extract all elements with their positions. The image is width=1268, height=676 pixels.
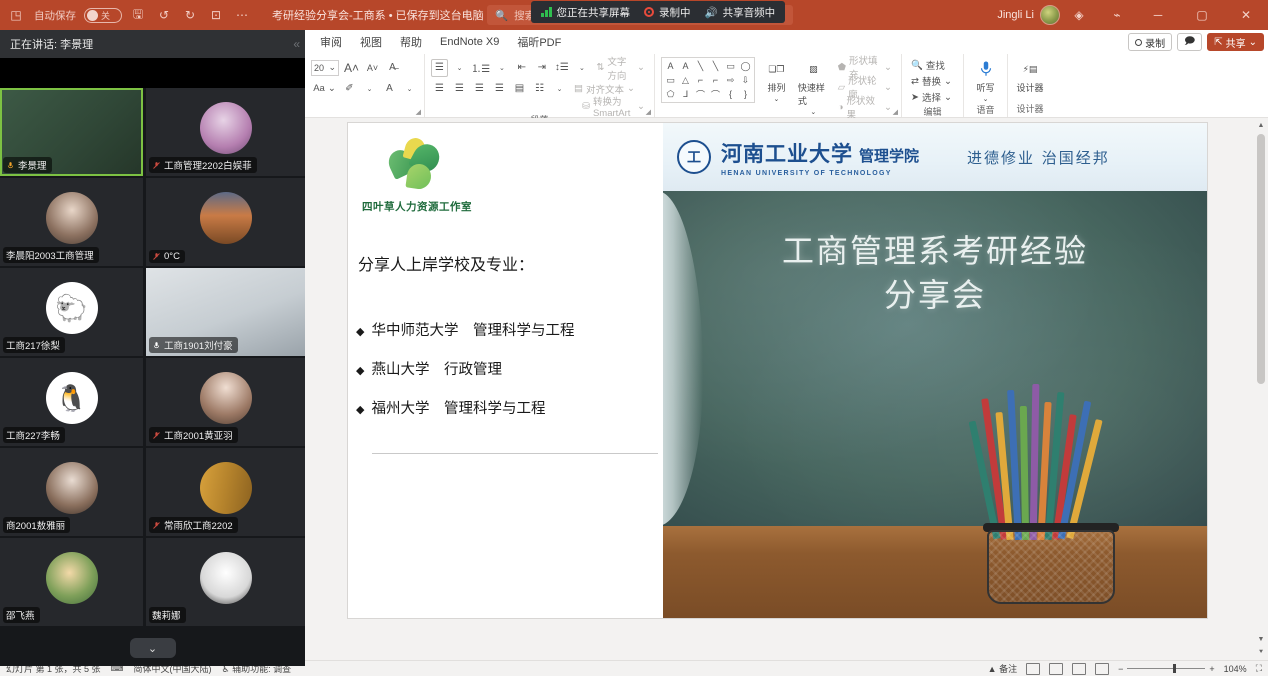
- avatar: [200, 462, 252, 514]
- tab-foxit-pdf[interactable]: 福昕PDF: [508, 31, 570, 53]
- font-color-icon[interactable]: A: [381, 80, 398, 98]
- zoom-meeting-panel: 正在讲话: 李景理 « 李景理 工商管理2202白娱菲: [0, 30, 305, 666]
- ribbon-group-font-title: [311, 105, 418, 117]
- record-button[interactable]: 录制: [1128, 33, 1172, 51]
- slide-right-column: 工 河南工业大学 管理学院 HENAN UNIVERSITY OF TECHNO…: [663, 123, 1207, 618]
- font-size-value: 20: [314, 63, 324, 73]
- participant-tile-4[interactable]: 🐑 工商217徐梨: [0, 268, 143, 356]
- dictate-button[interactable]: 听写 ⌄: [967, 57, 1005, 103]
- collapse-panel-icon[interactable]: «: [293, 37, 297, 51]
- scrollbar-thumb[interactable]: [1257, 134, 1265, 384]
- microphone-icon: [975, 58, 997, 80]
- university-header: 工 河南工业大学 管理学院 HENAN UNIVERSITY OF TECHNO…: [663, 123, 1207, 191]
- shape-down-arrow-icon[interactable]: ⇩: [738, 73, 753, 87]
- record-icon: [644, 7, 654, 17]
- clear-formatting-icon[interactable]: A̶: [384, 59, 401, 77]
- university-motto: 进德修业 治国经邦: [967, 147, 1110, 168]
- shape-line-icon[interactable]: ╲: [693, 59, 708, 73]
- participant-tile-9[interactable]: 常雨欣工商2202: [146, 448, 305, 536]
- slide-wrapper: 四叶草人力资源工作室 分享人上岸学校及专业： ◆华中师范大学 管理科学与工程 ◆…: [307, 122, 1248, 652]
- collapse-toolbar-button[interactable]: ⌄: [130, 638, 176, 658]
- tab-review[interactable]: 审阅: [311, 31, 351, 53]
- participant-tile-7[interactable]: 工商2001黄亚羽: [146, 358, 305, 446]
- search-icon: 🔍: [495, 9, 508, 22]
- scroll-up-arrow-icon[interactable]: ▲: [1254, 118, 1268, 132]
- participant-name: 0°C: [164, 251, 180, 262]
- bullets-icon[interactable]: ☰: [431, 59, 448, 77]
- autosave-toggle[interactable]: 关: [84, 8, 122, 23]
- zoom-slider[interactable]: − +: [1118, 664, 1215, 674]
- shape-arc2-icon[interactable]: ⌒: [708, 87, 723, 101]
- line-spacing-icon[interactable]: ↕☰: [553, 59, 570, 77]
- ribbon-group-font: 20 ⌄ A˄ A˅ A̶ Aa⌄ ✐ ⌄ A ⌄: [305, 54, 425, 117]
- avatar: [200, 552, 252, 604]
- notes-button[interactable]: ▲ 备注: [988, 662, 1017, 675]
- participant-name-chip: 工商管理2202白娱菲: [149, 157, 257, 173]
- ribbon-actions: 录制 🗩 ⇱ 共享 ⌄: [1128, 30, 1264, 54]
- quick-access-toolbar: ◳ 自动保存 关 🖫 ↺ ↻ ⊡ ⋯ 考研经验分享会-工商系 • 已保存到这台电…: [0, 5, 498, 25]
- participant-tile-11[interactable]: 魏莉娜: [146, 538, 305, 626]
- chevron-down-icon[interactable]: ⌄: [401, 80, 418, 98]
- list-item-text: 燕山大学 行政管理: [371, 362, 502, 378]
- sharing-label: 您正在共享屏幕: [557, 5, 631, 20]
- shape-fill-icon: ⬟: [838, 62, 846, 73]
- logo-caption: 四叶草人力资源工作室: [362, 199, 502, 214]
- fit-to-window-icon[interactable]: ⛶: [1256, 663, 1262, 674]
- audio-label: 共享音频中: [723, 5, 776, 20]
- participant-name: 李景理: [18, 158, 47, 172]
- sharing-status[interactable]: 您正在共享屏幕: [541, 5, 630, 20]
- participant-tile-2[interactable]: 李晨阳2003工商管理: [0, 178, 143, 266]
- avatar[interactable]: [1040, 5, 1060, 25]
- chevron-down-icon[interactable]: ⌄: [493, 59, 510, 77]
- participant-tile-3[interactable]: 0°C: [146, 178, 305, 266]
- cursor-icon: ➤: [911, 92, 919, 103]
- comment-icon: 🗩: [1184, 34, 1195, 51]
- shape-outline-icon: ▱: [838, 82, 845, 93]
- search-icon: 🔍: [911, 60, 923, 71]
- pencil-cup: [987, 530, 1115, 604]
- shape-pentagon-icon[interactable]: ⬠: [663, 87, 678, 101]
- ribbon-group-voice: 听写 ⌄ 语音: [964, 54, 1008, 117]
- participant-name: 魏莉娜: [152, 608, 181, 622]
- align-center-icon[interactable]: ☰: [451, 80, 468, 98]
- ribbon-group-voice-title: 语音: [976, 103, 994, 118]
- participant-name: 商2001敖雅丽: [6, 518, 65, 532]
- zoom-in-button[interactable]: +: [1209, 664, 1214, 674]
- divider: [372, 453, 658, 454]
- participant-tile-0[interactable]: 李景理: [0, 88, 143, 176]
- start-slideshow-icon[interactable]: ⊡: [206, 5, 226, 25]
- ribbon-display-options-icon[interactable]: ⌁: [1098, 0, 1136, 30]
- text-direction-button[interactable]: ⇅ 文字方向⌄: [593, 59, 648, 77]
- participant-name: 工商227李畅: [6, 428, 60, 442]
- diamond-icon[interactable]: ◈: [1060, 0, 1098, 30]
- shape-elbow-icon[interactable]: ⌐: [708, 73, 723, 87]
- autosave-knob: [87, 10, 98, 21]
- text-columns-icon[interactable]: ☷: [531, 80, 548, 98]
- increase-indent-icon[interactable]: ⇥: [533, 59, 550, 77]
- microphone-muted-icon: [152, 431, 161, 440]
- designer-button[interactable]: ⚡▤ 设计器: [1011, 57, 1049, 94]
- list-item: ◆燕山大学 行政管理: [356, 358, 661, 379]
- shape-triangle-icon[interactable]: △: [678, 73, 693, 87]
- shape-corner-icon[interactable]: ⌐: [693, 73, 708, 87]
- recording-label: 录制中: [659, 5, 691, 20]
- avatar: [46, 462, 98, 514]
- autosave-label: 自动保存: [34, 8, 76, 23]
- tab-view[interactable]: 视图: [351, 31, 391, 53]
- university-school: 管理学院: [859, 145, 919, 166]
- microphone-on-icon: [6, 161, 15, 170]
- slide-left-column: 四叶草人力资源工作室 分享人上岸学校及专业： ◆华中师范大学 管理科学与工程 ◆…: [348, 123, 663, 618]
- avatar: 🐧: [46, 372, 98, 424]
- slide-bullet-list: ◆华中师范大学 管理科学与工程 ◆燕山大学 行政管理 ◆福州大学 管理科学与工程: [356, 319, 661, 436]
- shape-arc-icon[interactable]: ⌒: [693, 87, 708, 101]
- view-slide-sorter-button[interactable]: [1049, 663, 1063, 675]
- active-speaker-bar: 正在讲话: 李景理 «: [0, 30, 305, 58]
- participant-name-chip: 常雨欣工商2202: [149, 517, 238, 533]
- shape-curve-icon[interactable]: ᒧ: [678, 87, 693, 101]
- participant-name: 工商1901刘付豪: [164, 338, 233, 352]
- panel-spacer: [0, 58, 305, 88]
- shape-right-arrow-icon[interactable]: ⇨: [723, 73, 738, 87]
- scroll-down-arrow-icon[interactable]: ▼: [1254, 632, 1268, 646]
- align-left-icon[interactable]: ☰: [431, 80, 448, 98]
- next-slide-arrow-icon[interactable]: ⯆: [1254, 646, 1268, 660]
- titlebar-right: Jingli Li ◈ ⌁ ─ ▢ ✕: [997, 0, 1268, 30]
- drawing-dialog-launcher[interactable]: ◢: [893, 108, 898, 116]
- align-text-icon: ▤: [574, 83, 583, 94]
- share-icon: ⇱: [1214, 37, 1222, 48]
- arrange-icon: ❏❐: [765, 58, 787, 80]
- diamond-bullet-icon: ◆: [356, 403, 364, 416]
- avatar: [200, 372, 252, 424]
- ribbon-group-designer-title: 设计器: [1016, 102, 1043, 117]
- qat-more-icon[interactable]: ⋯: [232, 5, 252, 25]
- participant-name-chip: 邵飞燕: [3, 607, 40, 623]
- shape-oval-icon[interactable]: ◯: [738, 59, 753, 73]
- grow-font-icon[interactable]: A˄: [342, 59, 361, 77]
- text-highlight-icon[interactable]: ✐: [341, 80, 358, 98]
- speaker-icon: 🔊: [705, 6, 718, 19]
- avatar: 🐑: [46, 282, 98, 334]
- find-label: 查找: [926, 58, 945, 72]
- clover-logo-icon: [383, 138, 445, 196]
- participant-tile-1[interactable]: 工商管理2202白娱菲: [146, 88, 305, 176]
- participant-name-chip: 商2001敖雅丽: [3, 517, 70, 533]
- quick-styles-icon: ▨: [802, 58, 824, 80]
- maximize-button[interactable]: ▢: [1180, 0, 1224, 30]
- page-title: 工商管理系考研经验 分享会: [663, 229, 1207, 317]
- notes-icon: ▲: [988, 664, 997, 674]
- powerpoint-app-icon: ◳: [6, 5, 26, 25]
- participant-name: 工商217徐梨: [6, 338, 60, 352]
- participant-name: 邵飞燕: [6, 608, 35, 622]
- chevron-down-icon: ⌄: [1249, 37, 1257, 48]
- designer-icon: ⚡▤: [1019, 58, 1041, 80]
- redo-icon[interactable]: ↻: [180, 5, 200, 25]
- arrange-label: 排列: [767, 81, 785, 94]
- shape-arrow-icon[interactable]: ╲: [708, 59, 723, 73]
- participant-name-chip: 0°C: [149, 250, 185, 263]
- font-size-input[interactable]: 20 ⌄: [311, 60, 339, 76]
- chevron-down-icon: ⌄: [810, 108, 816, 116]
- record-icon: [1135, 39, 1142, 46]
- university-name-cn: 河南工业大学: [721, 138, 853, 168]
- text-direction-icon: ⇅: [596, 62, 604, 73]
- shape-brace-left-icon[interactable]: {: [723, 87, 738, 101]
- chevron-down-icon[interactable]: ⌄: [451, 59, 468, 77]
- quick-styles-button[interactable]: ▨ 快速样式 ⌄: [798, 57, 829, 116]
- participant-name: 常雨欣工商2202: [164, 518, 233, 532]
- diamond-bullet-icon: ◆: [356, 325, 364, 338]
- ribbon-group-designer: ⚡▤ 设计器 设计器: [1008, 54, 1052, 117]
- participant-tile-6[interactable]: 🐧 工商227李畅: [0, 358, 143, 446]
- participant-name-chip: 工商227李畅: [3, 427, 65, 443]
- document-title-text: 考研经验分享会-工商系 • 已保存到这台电脑: [272, 10, 484, 22]
- arrange-button[interactable]: ❏❐ 排列 ⌄: [761, 57, 792, 103]
- avatar: [46, 552, 98, 604]
- record-label: 录制: [1145, 35, 1165, 50]
- replace-label: 替换: [922, 74, 941, 88]
- vertical-scrollbar[interactable]: ▲ ▼ ⯆: [1254, 118, 1268, 660]
- notes-label: 备注: [999, 664, 1017, 674]
- dictate-label: 听写: [976, 81, 994, 94]
- chevron-down-icon[interactable]: ⌄: [573, 59, 590, 77]
- decrease-indent-icon[interactable]: ⇤: [513, 59, 530, 77]
- screen-root: ◳ 自动保存 关 🖫 ↺ ↻ ⊡ ⋯ 考研经验分享会-工商系 • 已保存到这台电…: [0, 0, 1268, 676]
- font-dialog-launcher[interactable]: ◢: [416, 108, 421, 116]
- columns-icon[interactable]: ▤: [511, 80, 528, 98]
- participant-tile-10[interactable]: 邵飞燕: [0, 538, 143, 626]
- share-label: 共享: [1226, 35, 1246, 50]
- zoom-out-button[interactable]: −: [1118, 664, 1123, 674]
- participant-name-chip: 工商1901刘付豪: [149, 337, 238, 353]
- participant-name: 工商2001黄亚羽: [164, 428, 233, 442]
- align-right-icon[interactable]: ☰: [471, 80, 488, 98]
- change-case-icon[interactable]: Aa⌄: [311, 80, 338, 98]
- view-normal-button[interactable]: [1026, 663, 1040, 675]
- shape-textbox-icon[interactable]: A: [663, 59, 678, 73]
- participant-grid: 李景理 工商管理2202白娱菲 李晨阳2003工商管理: [0, 88, 305, 666]
- participant-name-chip: 李景理: [3, 157, 52, 173]
- page-title-line1: 工商管理系考研经验: [663, 229, 1207, 273]
- document-title[interactable]: 考研经验分享会-工商系 • 已保存到这台电脑 ⌄: [272, 7, 498, 23]
- view-reading-button[interactable]: [1072, 663, 1086, 675]
- ribbon-tabstrip: 审阅 视图 帮助 EndNote X9 福昕PDF: [305, 30, 1268, 54]
- avatar: [200, 192, 252, 244]
- numbering-icon[interactable]: ⒈☰: [471, 59, 490, 77]
- shape-effects-button[interactable]: ◑ 形状效果⌄: [835, 98, 895, 116]
- shapes-gallery[interactable]: A A ╲ ╲ ▭ ◯ ▭ △ ⌐ ⌐ ⇨ ⇩ ⬠ ᒧ ⌒: [661, 57, 755, 103]
- smartart-icon: ⛁: [582, 101, 590, 112]
- select-label: 选择: [922, 90, 941, 104]
- designer-label: 设计器: [1016, 81, 1043, 94]
- participant-name: 李晨阳2003工商管理: [6, 248, 94, 262]
- participant-tile-5[interactable]: 工商1901刘付豪: [146, 268, 305, 356]
- zoom-track[interactable]: [1127, 668, 1205, 669]
- participant-tile-8[interactable]: 商2001敖雅丽: [0, 448, 143, 536]
- participant-name-chip: 李晨阳2003工商管理: [3, 247, 99, 263]
- change-case-label: Aa: [313, 83, 325, 94]
- university-crest-icon: 工: [677, 140, 711, 174]
- participant-name-chip: 工商217徐梨: [3, 337, 65, 353]
- zoom-level[interactable]: 104%: [1224, 664, 1247, 674]
- page-title-line2: 分享会: [663, 273, 1207, 317]
- undo-icon[interactable]: ↺: [154, 5, 174, 25]
- signal-bars-icon: [541, 7, 552, 17]
- avatar: [46, 192, 98, 244]
- chevron-down-icon: ⌄: [328, 62, 336, 73]
- status-bar-right: ▲ 备注 − + 104% ⛶: [988, 662, 1262, 675]
- replace-icon: ⇄: [911, 76, 919, 87]
- audio-sharing-status[interactable]: 🔊 共享音频中: [705, 5, 776, 20]
- participant-name-chip: 工商2001黄亚羽: [149, 427, 238, 443]
- slide-share-heading: 分享人上岸学校及专业：: [358, 251, 534, 275]
- shrink-font-icon[interactable]: A˅: [364, 59, 381, 77]
- tab-endnote[interactable]: EndNote X9: [431, 33, 508, 51]
- chalkboard-image: 工商管理系考研经验 分享会: [663, 191, 1207, 618]
- tab-help[interactable]: 帮助: [391, 31, 431, 53]
- slide[interactable]: 四叶草人力资源工作室 分享人上岸学校及专业： ◆华中师范大学 管理科学与工程 ◆…: [347, 122, 1208, 619]
- text-direction-label: 文字方向: [607, 54, 634, 82]
- chevron-down-icon[interactable]: ⌄: [551, 80, 568, 98]
- microphone-on-icon: [152, 341, 161, 350]
- zoom-knob[interactable]: [1173, 664, 1176, 673]
- ribbon-group-editing: 🔍 查找 ⇄ 替换⌄ ➤ 选择⌄: [902, 54, 964, 117]
- shape-rect-icon[interactable]: ▭: [723, 59, 738, 73]
- view-slideshow-button[interactable]: [1095, 663, 1109, 675]
- list-item: ◆福州大学 管理科学与工程: [356, 397, 661, 418]
- participant-name: 工商管理2202白娱菲: [164, 158, 252, 172]
- zoom-floating-toolbar[interactable]: 您正在共享屏幕 录制中 🔊 共享音频中: [531, 1, 785, 23]
- participant-name-chip: 魏莉娜: [149, 607, 186, 623]
- shape-brace-right-icon[interactable]: }: [738, 87, 753, 101]
- microphone-muted-icon: [152, 521, 161, 530]
- pencil-cup-illustration: [963, 376, 1141, 606]
- user-name: Jingli Li: [997, 9, 1034, 21]
- university-name-en: HENAN UNIVERSITY OF TECHNOLOGY: [721, 170, 919, 177]
- shape-textbox2-icon[interactable]: A: [678, 59, 693, 73]
- microphone-muted-icon: [152, 252, 161, 261]
- chevron-down-icon[interactable]: ⌄: [361, 80, 378, 98]
- autosave-state: 关: [101, 9, 110, 22]
- qat-save-icon[interactable]: 🖫: [128, 5, 148, 25]
- chevron-down-icon: ⌄: [983, 95, 989, 103]
- select-button[interactable]: ➤ 选择⌄: [908, 88, 955, 106]
- list-item-text: 福州大学 管理科学与工程: [371, 401, 545, 417]
- quick-styles-label: 快速样式: [798, 81, 829, 107]
- close-button[interactable]: ✕: [1224, 0, 1268, 30]
- shape-effects-icon: ◑: [838, 102, 844, 113]
- list-item-text: 华中师范大学 管理科学与工程: [371, 323, 574, 339]
- paragraph-dialog-launcher[interactable]: ◢: [646, 108, 651, 116]
- diamond-bullet-icon: ◆: [356, 364, 364, 377]
- active-speaker-label: 正在讲话: 李景理: [10, 36, 93, 52]
- avatar: [200, 102, 252, 154]
- slide-canvas-area: 四叶草人力资源工作室 分享人上岸学校及专业： ◆华中师范大学 管理科学与工程 ◆…: [305, 118, 1268, 660]
- shape-rect2-icon[interactable]: ▭: [663, 73, 678, 87]
- chevron-down-icon: ⌄: [774, 95, 780, 103]
- recording-status[interactable]: 录制中: [644, 5, 691, 20]
- comments-button[interactable]: 🗩: [1177, 33, 1202, 51]
- justify-icon[interactable]: ☰: [491, 80, 508, 98]
- minimize-button[interactable]: ─: [1136, 0, 1180, 30]
- microphone-muted-icon: [152, 161, 161, 170]
- ribbon: 20 ⌄ A˄ A˅ A̶ Aa⌄ ✐ ⌄ A ⌄: [305, 54, 1268, 118]
- ribbon-group-paragraph: ☰ ⌄ ⒈☰ ⌄ ⇤ ⇥ ↕☰ ⌄ ⇅ 文字方向⌄ ☰: [425, 54, 655, 117]
- list-item: ◆华中师范大学 管理科学与工程: [356, 319, 661, 340]
- share-button[interactable]: ⇱ 共享 ⌄: [1207, 33, 1264, 51]
- ribbon-group-drawing: A A ╲ ╲ ▭ ◯ ▭ △ ⌐ ⌐ ⇨ ⇩ ⬠ ᒧ ⌒: [655, 54, 902, 117]
